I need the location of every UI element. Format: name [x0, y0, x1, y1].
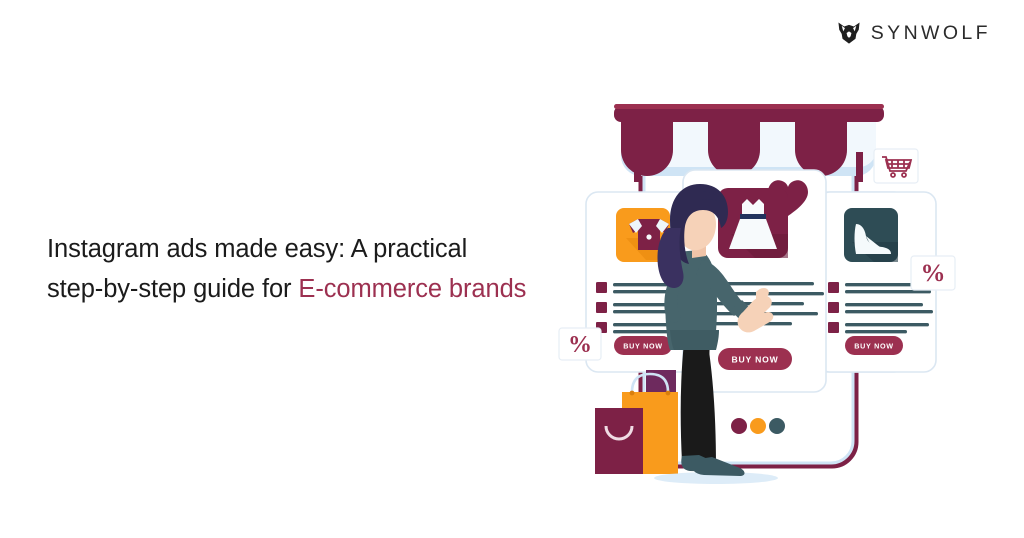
- buy-now-label-center: BUY NOW: [732, 355, 779, 365]
- headline-line-1: Instagram ads made easy: A practical: [47, 235, 467, 263]
- buy-now-button-right[interactable]: BUY NOW: [845, 336, 903, 355]
- carousel-dot-2[interactable]: [750, 418, 766, 434]
- wolf-head-icon: [836, 20, 862, 46]
- discount-badge-right: %: [911, 256, 955, 290]
- shopping-bags: [595, 370, 678, 474]
- brand-name: SYNWOLF: [871, 22, 991, 45]
- discount-badge-right-label: %: [921, 260, 946, 287]
- carousel-dot-3[interactable]: [769, 418, 785, 434]
- page-title: Instagram ads made easy: A practical ste…: [47, 229, 567, 309]
- card-left-bullets: [596, 282, 607, 333]
- card-right-bullets: [828, 282, 839, 333]
- brand-logo[interactable]: SYNWOLF: [836, 20, 991, 46]
- cart-badge[interactable]: [874, 149, 918, 183]
- hero-banner: SYNWOLF Instagram ads made easy: A pract…: [0, 0, 1024, 538]
- buy-now-label-left: BUY NOW: [623, 342, 663, 351]
- carousel-dot-1[interactable]: [731, 418, 747, 434]
- buy-now-label-right: BUY NOW: [854, 342, 894, 351]
- carousel-dots[interactable]: [731, 418, 785, 434]
- buy-now-button-left[interactable]: BUY NOW: [614, 336, 672, 355]
- headline-line-2-prefix: step-by-step guide for: [47, 275, 298, 303]
- discount-badge-left-label: %: [568, 332, 592, 358]
- discount-badge-left: %: [559, 328, 601, 360]
- ecommerce-shopping-illustration: BUY NOW: [556, 96, 1016, 506]
- high-heel-icon: [844, 208, 898, 262]
- maroon-bag: [595, 408, 643, 474]
- headline-accent: E-commerce brands: [298, 275, 526, 303]
- buy-now-button-center[interactable]: BUY NOW: [718, 348, 792, 370]
